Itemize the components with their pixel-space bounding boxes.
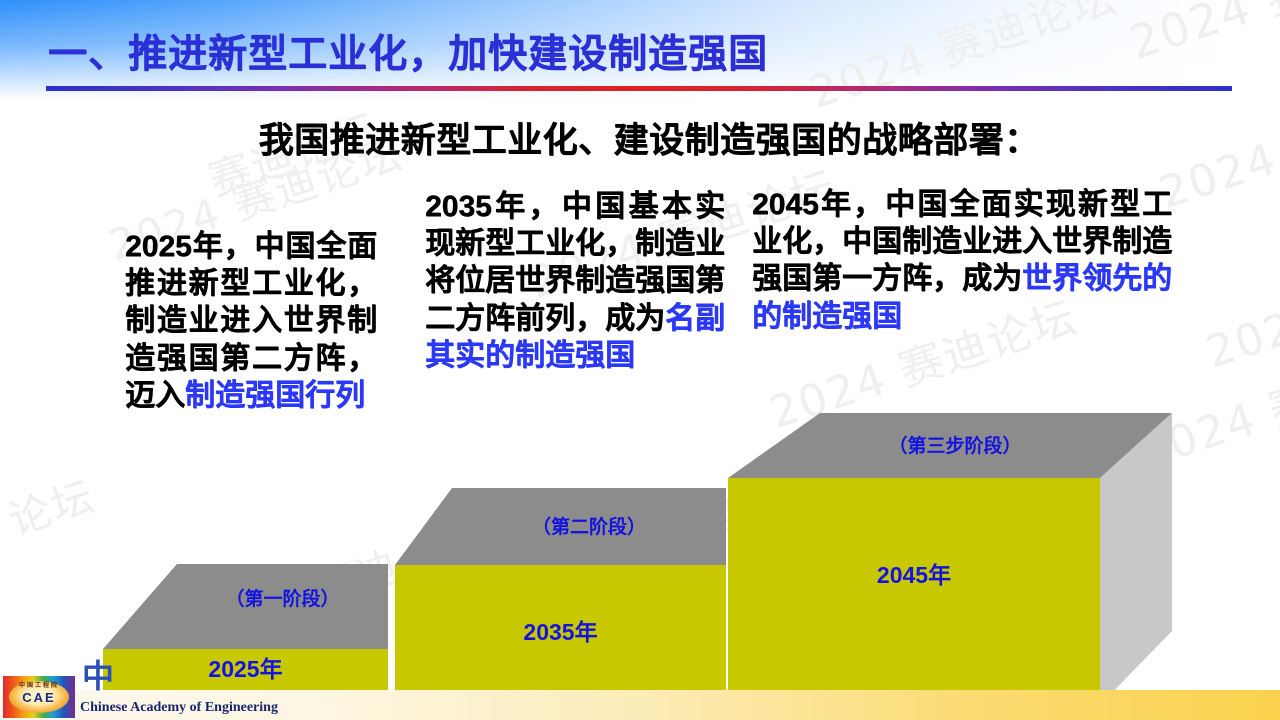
cae-english-name: Chinese Academy of Engineering	[80, 700, 278, 718]
cae-chinese-char: 中	[82, 660, 114, 692]
page-title-wrap: 一、推进新型工业化，加快建设制造强国	[0, 34, 1280, 77]
step-3-year-label: 2045年	[728, 556, 1100, 590]
highlight-run: 制造强国行列	[185, 379, 365, 412]
step-2-year-label: 2035年	[395, 613, 726, 647]
cae-emblem-icon: 中国工程院 CAE	[3, 676, 75, 718]
stage-text-2045: 2045年，中国全面实现新型工业化，中国制造业进入世界制造强国第一方阵，成为世界…	[752, 186, 1172, 335]
cae-logo: 中国工程院 CAE 中 Chinese Academy of Engineeri…	[3, 676, 278, 718]
title-divider	[46, 86, 1232, 91]
stage-text-2025: 2025年，中国全面推进新型工业化，制造业进入世界制造强国第二方阵，迈入制造强国…	[125, 228, 377, 414]
cae-chinese-ring-text: 中国工程院	[3, 680, 75, 689]
cae-wordmark: 中 Chinese Academy of Engineering	[80, 700, 278, 718]
page-subtitle: 我国推进新型工业化、建设制造强国的战略部署：	[0, 112, 1280, 163]
page-title: 一、推进新型工业化，加快建设制造强国	[0, 34, 1280, 77]
step-2-stage-label: （第二阶段）	[452, 512, 726, 539]
step-1-stage-label: （第一阶段）	[177, 584, 388, 611]
slide-canvas: 2024 赛迪论坛2024 赛迪论坛赛迪论坛2024 赛迪论坛2024 赛迪论坛…	[0, 0, 1280, 720]
step-3-stage-label: （第三步阶段）	[800, 431, 1110, 458]
cae-acronym: CAE	[3, 690, 75, 705]
step-3-face	[728, 478, 1100, 705]
stage-text-2035: 2035年，中国基本实现新型工业化，制造业将位居世界制造强国第二方阵前列，成为名…	[425, 188, 725, 374]
